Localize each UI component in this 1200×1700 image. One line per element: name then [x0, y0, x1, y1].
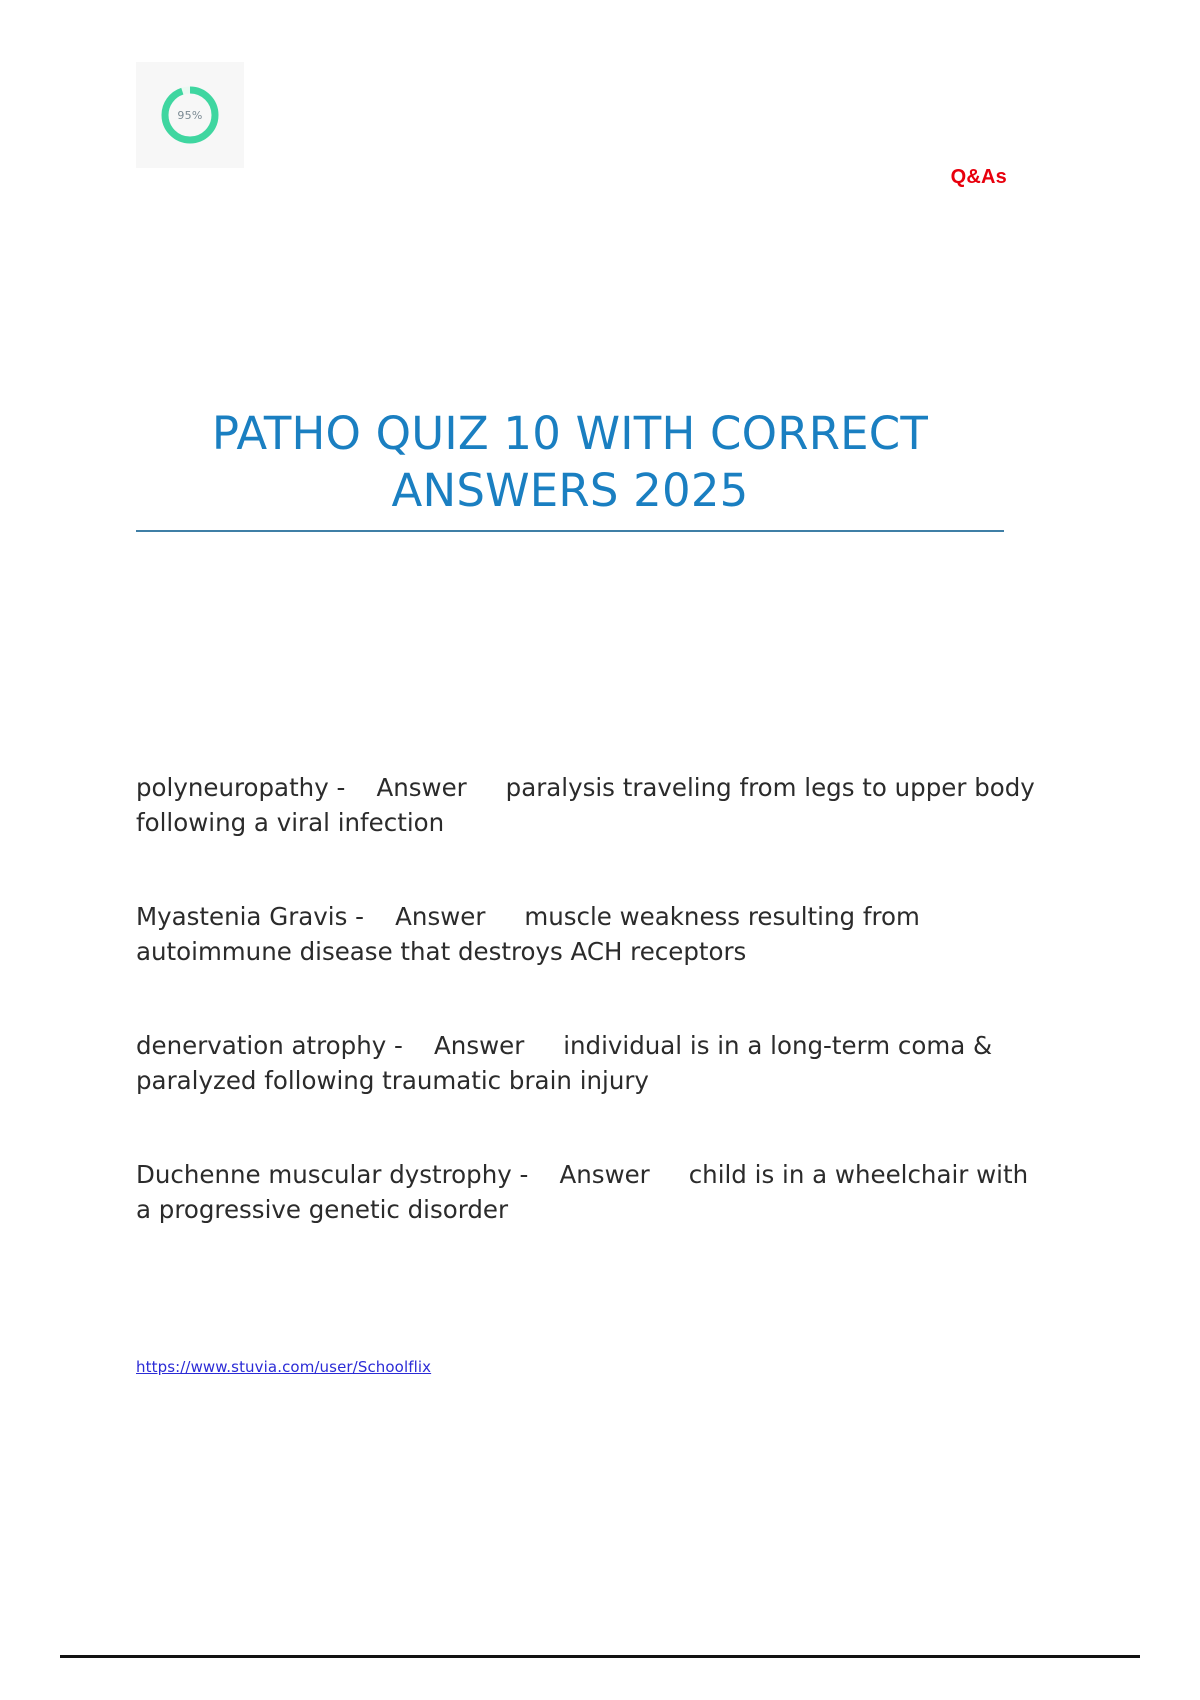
- profile-link[interactable]: https://www.stuvia.com/user/Schoolflix: [136, 1358, 431, 1376]
- title-divider: [136, 530, 1004, 532]
- page-title: PATHO QUIZ 10 WITH CORRECT ANSWERS 2025: [136, 405, 1004, 519]
- qa-item: Myastenia Gravis - Answer muscle weaknes…: [136, 899, 1036, 969]
- qa-item: polyneuropathy - Answer paralysis travel…: [136, 770, 1036, 840]
- score-badge: 95%: [136, 62, 244, 168]
- qa-list: polyneuropathy - Answer paralysis travel…: [136, 770, 1036, 1286]
- score-ring: 95%: [157, 82, 223, 148]
- document-title-text: PATHO QUIZ 10 WITH CORRECT ANSWERS 2025: [136, 405, 1004, 519]
- qa-item: denervation atrophy - Answer individual …: [136, 1028, 1036, 1098]
- qa-item: Duchenne muscular dystrophy - Answer chi…: [136, 1157, 1036, 1227]
- document-page: 95% Q&As PATHO QUIZ 10 WITH CORRECT ANSW…: [0, 0, 1200, 1700]
- qas-tag: Q&As: [951, 166, 1007, 189]
- bottom-divider: [60, 1655, 1140, 1658]
- score-percent-label: 95%: [157, 82, 223, 148]
